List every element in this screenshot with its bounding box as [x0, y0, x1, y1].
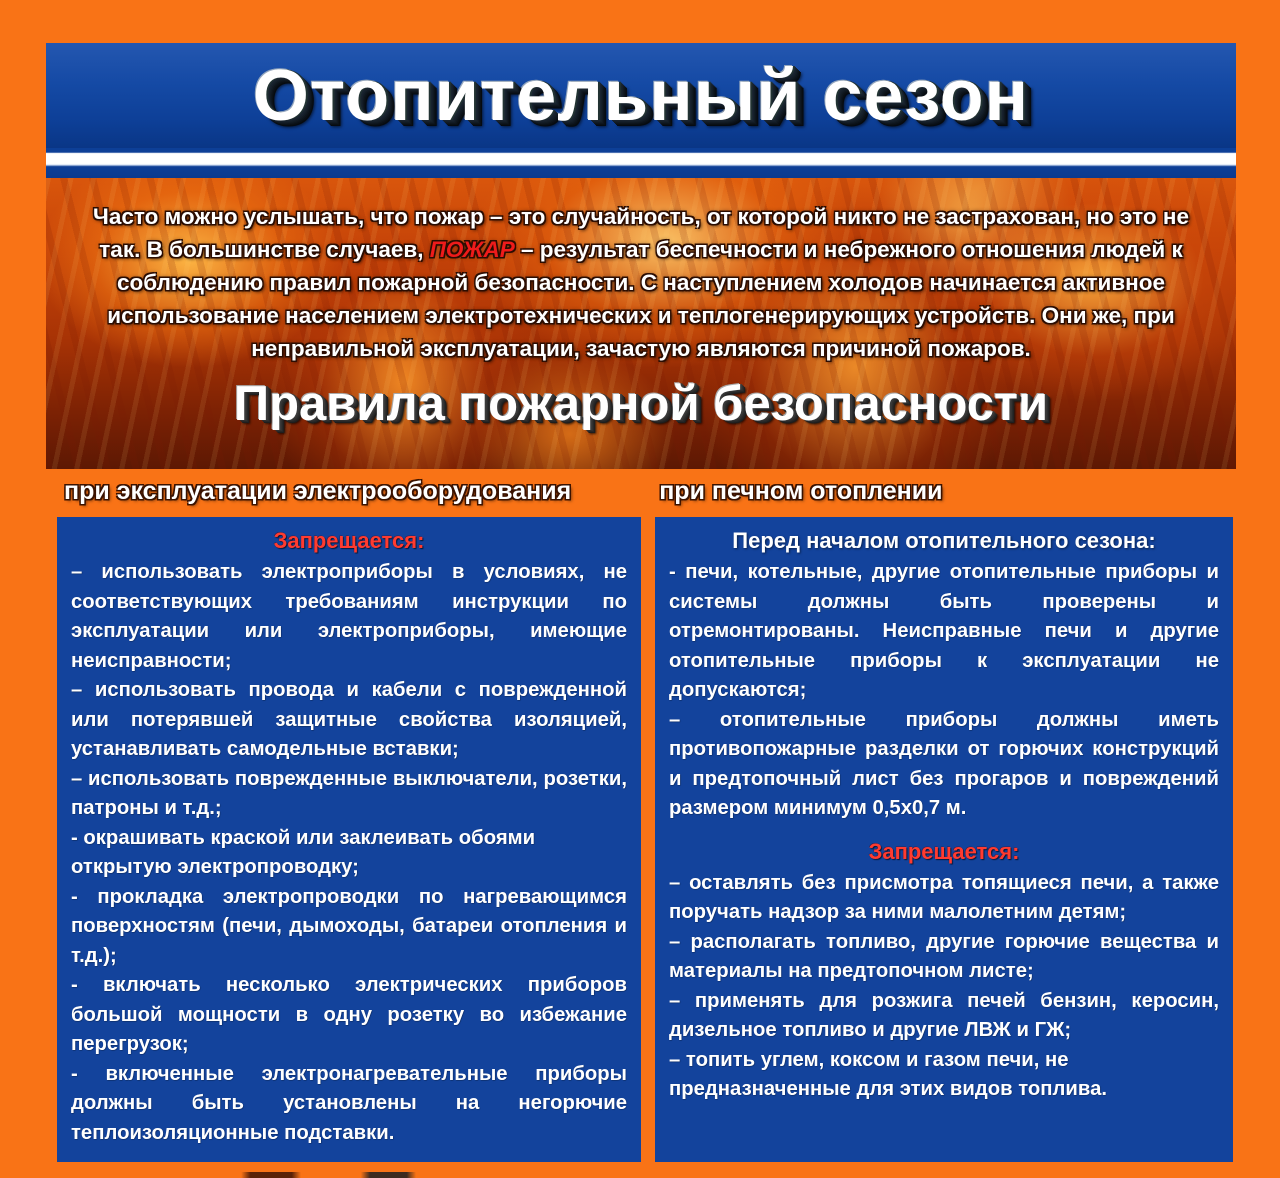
bottom-cutoff-artwork — [140, 1172, 600, 1178]
left-panel-item-4: - прокладка электропроводки по нагревающ… — [71, 883, 627, 972]
page-title: Отопительный сезон — [253, 60, 1029, 132]
right-panel-forbidden-item-1: – располагать топливо, другие горючие ве… — [669, 928, 1219, 987]
panel-electrical-equipment: Запрещается: – использовать электроприбо… — [57, 517, 641, 1162]
panel-stove-heating: Перед началом отопительного сезона: - пе… — [655, 517, 1233, 1162]
right-panel-before-item-1: – отопительные приборы должны иметь прот… — [669, 706, 1219, 824]
right-panel-before-season-title: Перед началом отопительного сезона: — [669, 527, 1219, 555]
pozhar-highlight: ПОЖАР — [430, 237, 515, 262]
fire-background-block: Часто можно услышать, что пожар – это сл… — [46, 178, 1236, 469]
right-panel-forbidden-item-3: – топить углем, коксом и газом печи, не … — [669, 1046, 1219, 1105]
subheading-stove-heating: при печном отоплении — [659, 473, 942, 509]
subheading-electrical: при эксплуатации электрооборудования — [64, 473, 571, 509]
right-panel-forbidden-item-2: – применять для розжига печей бензин, ке… — [669, 987, 1219, 1046]
intro-paragraph: Часто можно услышать, что пожар – это сл… — [76, 200, 1206, 365]
right-panel-before-item-0: - печи, котельные, другие отопительные п… — [669, 558, 1219, 706]
left-panel-item-1: – использовать провода и кабели с повреж… — [71, 676, 627, 765]
title-banner: Отопительный сезон — [46, 43, 1236, 148]
subheadings-row: при эксплуатации электрооборудования при… — [46, 473, 1236, 509]
right-panel-forbidden-title: Запрещается: — [669, 838, 1219, 866]
rules-heading: Правила пожарной безопасности — [46, 379, 1236, 430]
content-panels: Запрещается: – использовать электроприбо… — [57, 517, 1233, 1162]
title-underline-stripe — [46, 148, 1236, 178]
left-panel-item-5: - включать несколько электрических прибо… — [71, 971, 627, 1060]
right-panel-forbidden-item-0: – оставлять без присмотра топящиеся печи… — [669, 869, 1219, 928]
left-panel-item-0: – использовать электроприборы в условиях… — [71, 558, 627, 676]
left-panel-item-2: – использовать поврежденные выключатели,… — [71, 765, 627, 824]
left-panel-item-3: - окрашивать краской или заклеивать обоя… — [71, 824, 627, 883]
intro-paragraph-wrapper: Часто можно услышать, что пожар – это сл… — [46, 178, 1236, 365]
fire-safety-poster: Отопительный сезон Часто можно услышать,… — [0, 0, 1280, 1178]
left-panel-forbidden-title: Запрещается: — [71, 527, 627, 555]
left-panel-item-6: - включенные электронагревательные прибо… — [71, 1060, 627, 1149]
